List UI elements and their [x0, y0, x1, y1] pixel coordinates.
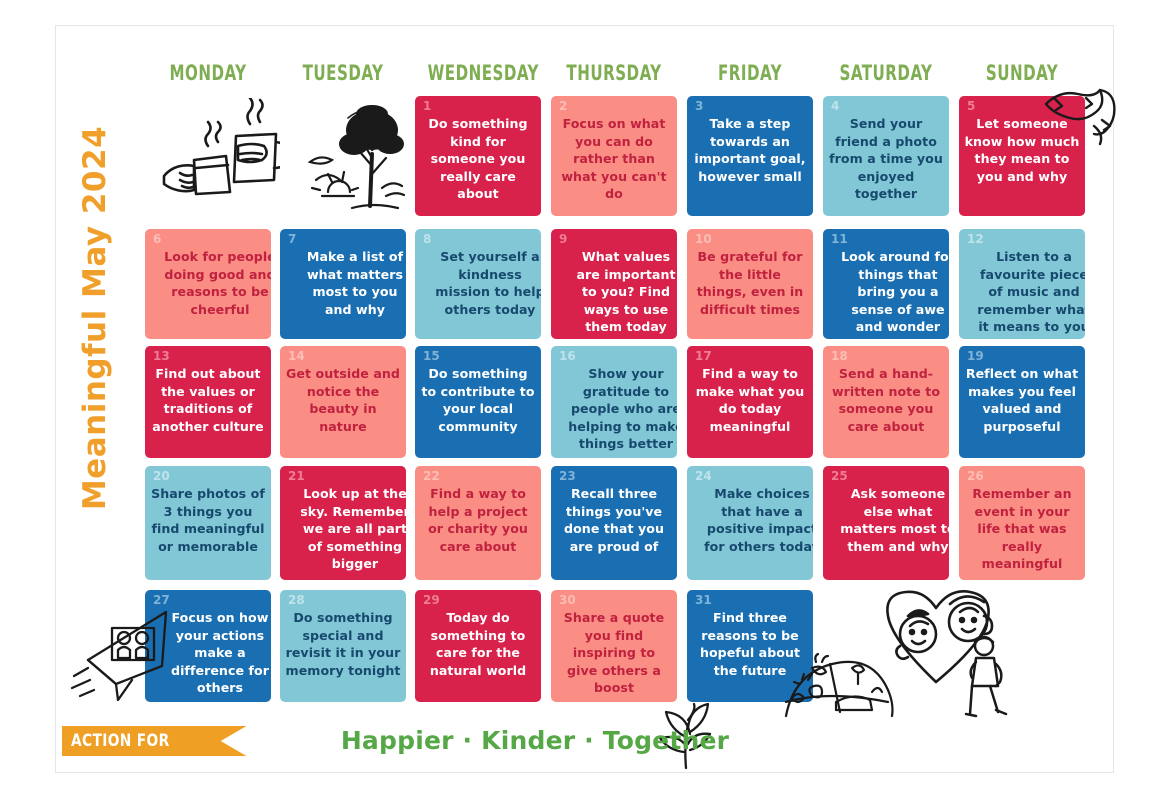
poster-footer: ACTION FOR HAPPINESS Happier · Kinder · … — [0, 0, 1170, 802]
tagline: Happier · Kinder · Together — [320, 724, 750, 758]
action-for-happiness-logo: ACTION FOR HAPPINESS — [62, 726, 247, 756]
meaningful-may-calendar-poster: Meaningful May 2024 MONDAYTUESDAYWEDNESD… — [0, 0, 1170, 802]
